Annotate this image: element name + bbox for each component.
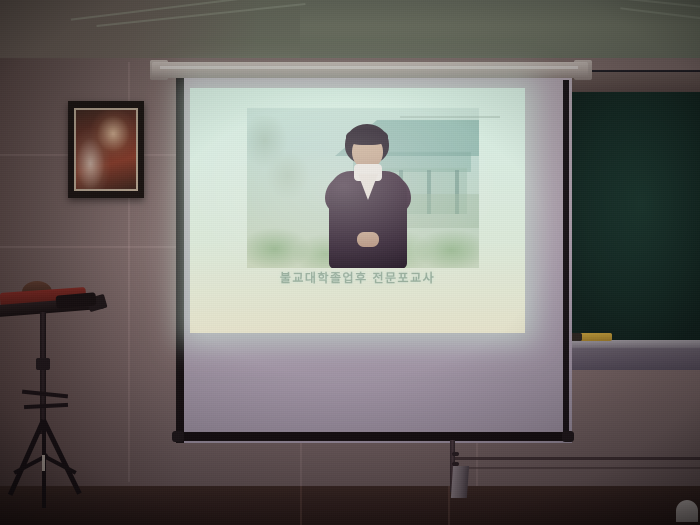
slide-caption-text: 불교대학졸업후 전문포교사 [190,269,525,286]
slide-photograph [247,108,479,268]
projection-scanline-artifact [400,116,500,118]
chalk-ledge [566,340,700,348]
screen-border-left [176,78,184,443]
portrait-artwork [76,110,136,189]
floor-object [676,500,698,522]
wall-seam [0,246,178,248]
floor [0,486,700,525]
floor-seam [300,486,302,525]
radiator-bracket [452,462,459,466]
stand-center-post[interactable] [40,312,46,434]
projected-slide: 불교대학졸업후 전문포교사 [190,88,525,333]
photo-subject-figure [319,124,415,268]
screen-border-right [563,80,569,440]
figure-hands [357,232,379,247]
stand-height-collar[interactable] [36,358,50,370]
screen-bar-end-right [562,431,574,442]
wall-rail-lower [455,467,700,469]
picture-mat [74,108,138,191]
wall-rail [455,457,700,460]
screen-roller-housing [152,62,588,78]
screen-bar-end-left [172,431,184,442]
chalkboard-lower-wall [566,348,700,370]
radiator-bracket [452,452,459,456]
screen-housing-highlight [160,66,578,69]
tripod-lock-pin[interactable] [42,455,45,471]
framed-portrait [68,101,144,198]
figure-hair-fringe [346,128,388,145]
chalkboard [572,92,700,340]
classroom-scene: 불교대학졸업후 전문포교사 [0,0,700,525]
screen-weight-bar[interactable] [176,432,572,441]
wall-radiator [451,466,469,498]
